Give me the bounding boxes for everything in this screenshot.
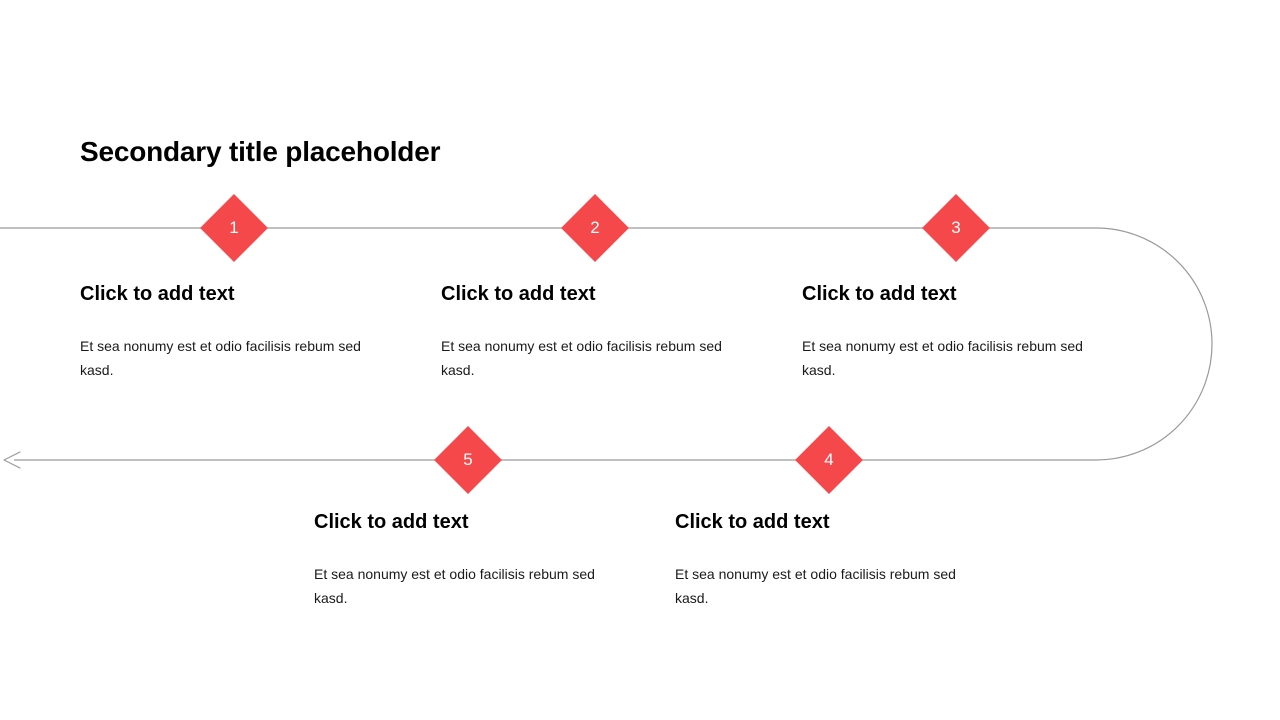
step-block-4: Click to add text Et sea nonumy est et o… [675,507,975,610]
step-body-5[interactable]: Et sea nonumy est et odio facilisis rebu… [314,562,614,610]
slide-canvas: Secondary title placeholder 1 2 3 4 5 Cl… [0,0,1280,720]
step-heading-1[interactable]: Click to add text [80,279,234,309]
step-body-2[interactable]: Et sea nonumy est et odio facilisis rebu… [441,334,741,382]
step-block-2: Click to add text Et sea nonumy est et o… [441,279,741,382]
milestone-number-5: 5 [444,436,492,484]
step-body-4[interactable]: Et sea nonumy est et odio facilisis rebu… [675,562,975,610]
timeline-arrowhead [4,452,20,468]
step-heading-2[interactable]: Click to add text [441,279,595,309]
milestone-marker-2[interactable]: 2 [561,194,629,262]
page-title[interactable]: Secondary title placeholder [80,133,440,171]
milestone-number-2: 2 [571,204,619,252]
milestone-number-1: 1 [210,204,258,252]
step-heading-5[interactable]: Click to add text [314,507,468,537]
step-heading-3[interactable]: Click to add text [802,279,956,309]
step-heading-4[interactable]: Click to add text [675,507,829,537]
step-block-1: Click to add text Et sea nonumy est et o… [80,279,380,382]
step-body-1[interactable]: Et sea nonumy est et odio facilisis rebu… [80,334,380,382]
step-block-3: Click to add text Et sea nonumy est et o… [802,279,1102,382]
milestone-number-4: 4 [805,436,853,484]
timeline-uturn-arc [1096,228,1212,460]
milestone-marker-1[interactable]: 1 [200,194,268,262]
step-block-5: Click to add text Et sea nonumy est et o… [314,507,614,610]
milestone-marker-4[interactable]: 4 [795,426,863,494]
step-body-3[interactable]: Et sea nonumy est et odio facilisis rebu… [802,334,1102,382]
milestone-marker-3[interactable]: 3 [922,194,990,262]
milestone-number-3: 3 [932,204,980,252]
milestone-marker-5[interactable]: 5 [434,426,502,494]
